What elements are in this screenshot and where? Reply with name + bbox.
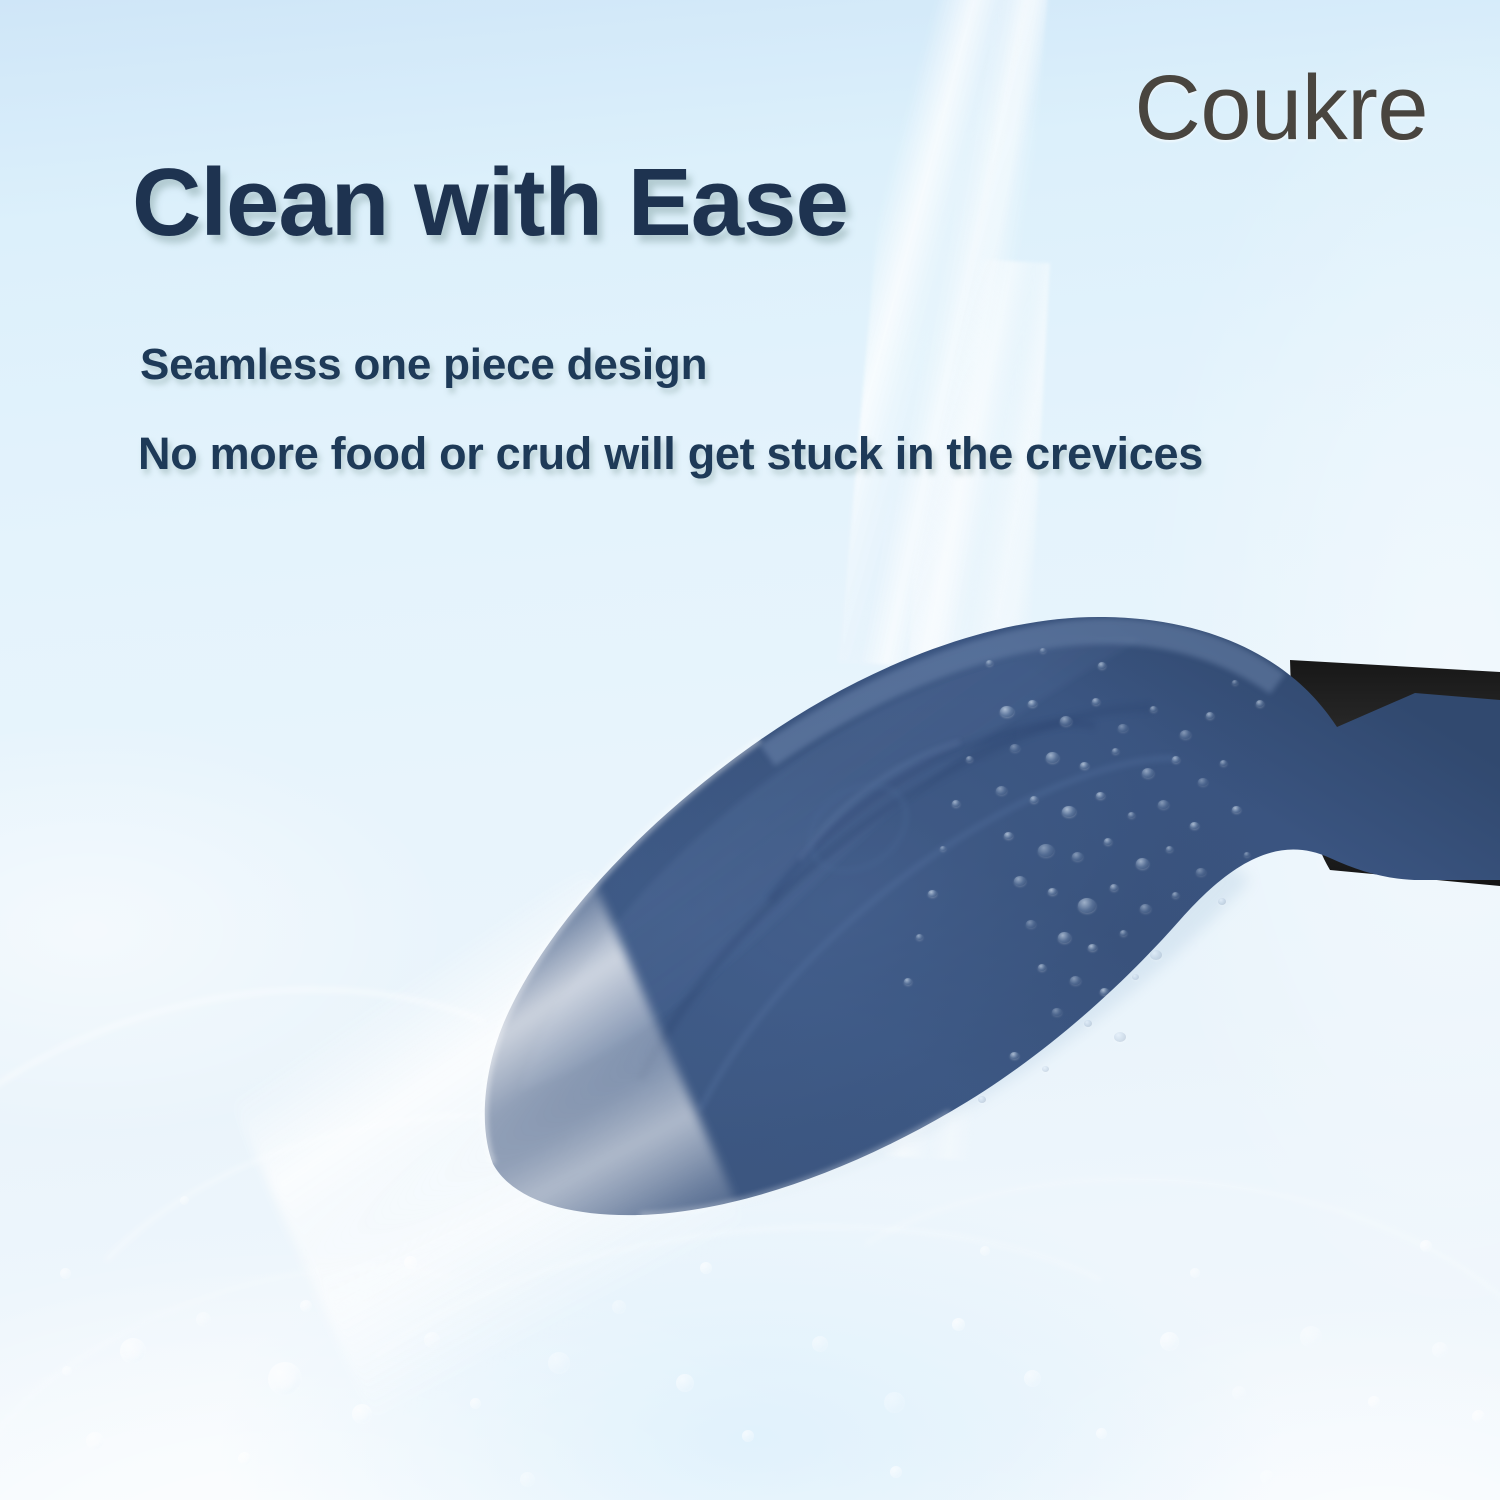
water-droplet bbox=[1256, 700, 1264, 707]
water-droplet bbox=[1030, 796, 1038, 803]
water-bubble bbox=[86, 1432, 104, 1450]
water-bubble bbox=[812, 1336, 828, 1352]
water-bubble bbox=[1368, 1396, 1380, 1408]
water-droplet bbox=[1098, 662, 1106, 669]
water-droplet bbox=[1042, 1066, 1049, 1072]
water-droplet bbox=[1198, 778, 1208, 786]
water-droplet bbox=[1244, 852, 1250, 857]
water-droplet bbox=[1136, 858, 1149, 869]
water-droplet bbox=[1190, 822, 1199, 829]
water-droplet bbox=[1132, 974, 1139, 980]
spatula-handle bbox=[1290, 660, 1500, 886]
water-droplet bbox=[1058, 932, 1071, 943]
product-marketing-image: Coukre Clean with Ease Seamless one piec… bbox=[0, 0, 1500, 1500]
water-droplet bbox=[1120, 930, 1127, 936]
water-droplet bbox=[1166, 846, 1173, 852]
water-droplet bbox=[1158, 800, 1169, 809]
water-droplet bbox=[1028, 700, 1037, 707]
water-droplet bbox=[1072, 852, 1083, 861]
water-droplet bbox=[1084, 1020, 1092, 1027]
water-droplet bbox=[1150, 706, 1157, 712]
water-bubble bbox=[952, 1318, 965, 1331]
water-bubble bbox=[980, 1246, 990, 1256]
water-droplet bbox=[1172, 892, 1179, 898]
water-droplet bbox=[1118, 724, 1128, 732]
water-droplet bbox=[1128, 812, 1135, 818]
water-droplet bbox=[1180, 730, 1191, 739]
feature-line-1: Seamless one piece design bbox=[140, 340, 707, 390]
water-droplet bbox=[1140, 904, 1151, 913]
water-droplet bbox=[1010, 1052, 1019, 1059]
water-droplet bbox=[1092, 698, 1100, 705]
water-bubble bbox=[1024, 1370, 1041, 1387]
page-title: Clean with Ease bbox=[132, 148, 848, 258]
water-bubble bbox=[1420, 1240, 1432, 1252]
water-droplet bbox=[1206, 712, 1214, 719]
water-droplet bbox=[1172, 756, 1180, 763]
water-droplet bbox=[1088, 944, 1097, 951]
water-droplet bbox=[1110, 884, 1118, 891]
water-bubble bbox=[1472, 1410, 1485, 1423]
water-bubble bbox=[120, 1338, 146, 1364]
water-droplet bbox=[1142, 768, 1154, 778]
water-droplet bbox=[1060, 716, 1072, 726]
water-bubble bbox=[884, 1392, 905, 1413]
water-bubble bbox=[1432, 1342, 1448, 1358]
feature-line-2: No more food or crud will get stuck in t… bbox=[138, 428, 1203, 480]
water-droplet bbox=[1096, 792, 1105, 799]
water-bubble bbox=[742, 1430, 754, 1442]
water-droplet bbox=[1040, 648, 1046, 653]
water-droplet bbox=[1078, 898, 1096, 913]
brand-logo-text: Coukre bbox=[1134, 56, 1428, 161]
water-droplet bbox=[1100, 988, 1109, 995]
water-bubble bbox=[196, 1312, 211, 1327]
water-droplet bbox=[1104, 838, 1112, 845]
water-droplet bbox=[1048, 888, 1057, 895]
water-droplet bbox=[1114, 1032, 1126, 1042]
water-droplet bbox=[1038, 964, 1046, 971]
water-droplet bbox=[1232, 806, 1241, 813]
water-bubble bbox=[1232, 1386, 1246, 1400]
water-droplet bbox=[1046, 752, 1059, 763]
water-droplet bbox=[1218, 898, 1226, 905]
water-bubble bbox=[180, 1196, 189, 1205]
water-bubble bbox=[1096, 1428, 1107, 1439]
water-droplet bbox=[1150, 950, 1162, 960]
water-droplet bbox=[1196, 868, 1206, 876]
water-bubble bbox=[60, 1268, 71, 1279]
water-bubble bbox=[1160, 1332, 1179, 1351]
water-droplet bbox=[1070, 976, 1081, 985]
water-droplet bbox=[1112, 748, 1119, 754]
water-bubble bbox=[890, 1466, 902, 1478]
water-bubble bbox=[268, 1362, 302, 1396]
water-droplet bbox=[1038, 844, 1054, 857]
water-bubble bbox=[300, 1300, 312, 1312]
water-droplet bbox=[1220, 760, 1227, 766]
water-droplet bbox=[1052, 1008, 1062, 1016]
water-droplet bbox=[1026, 920, 1036, 928]
water-bubble bbox=[1300, 1326, 1322, 1348]
water-bubble bbox=[238, 1452, 251, 1465]
water-droplet bbox=[1080, 762, 1089, 769]
head-edge-shade bbox=[980, 860, 1340, 1180]
water-bubble bbox=[1190, 1268, 1200, 1278]
water-droplet bbox=[1062, 806, 1076, 817]
water-droplet bbox=[1232, 680, 1238, 685]
water-bubble bbox=[62, 1366, 72, 1376]
water-bubble bbox=[1260, 1470, 1274, 1484]
water-runoff bbox=[204, 869, 815, 1500]
ripple-arc bbox=[740, 1145, 1500, 1500]
